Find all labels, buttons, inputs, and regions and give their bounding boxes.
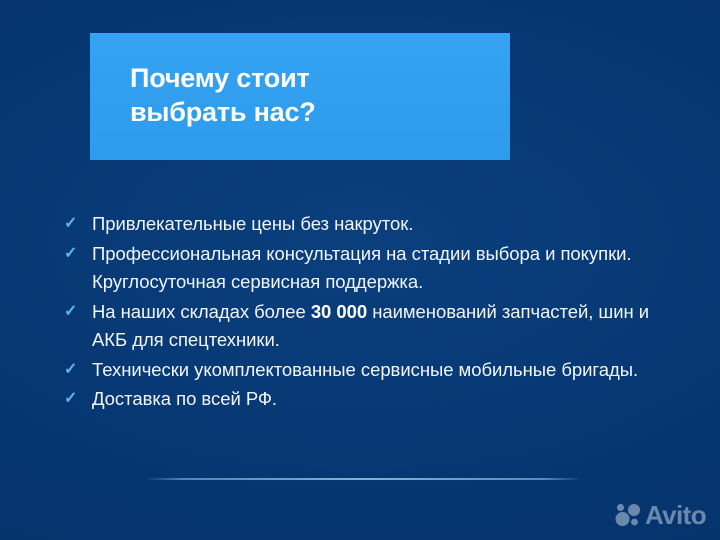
page-title: Почему стоит выбрать нас? [130,61,500,129]
list-item-label: Доставка по всей РФ. [92,388,277,409]
divider [148,478,578,480]
avito-wordmark: Avito [645,502,706,528]
benefits-list: ✓ Привлекательные цены без накруток. ✓ П… [64,210,664,415]
check-icon: ✓ [64,240,86,268]
check-icon: ✓ [64,356,86,384]
list-item-text-before: На наших складах более [92,301,311,322]
check-icon: ✓ [64,298,86,326]
check-icon: ✓ [64,385,86,413]
list-item-label: Привлекательные цены без накруток. [92,213,413,234]
title-banner: Почему стоит выбрать нас? [90,33,510,160]
list-item-label: Технически укомплектованные сервисные мо… [92,359,638,380]
list-item: ✓ Доставка по всей РФ. [64,385,664,414]
avito-watermark: Avito [615,502,706,528]
list-item: ✓ Профессиональная консультация на стади… [64,240,664,297]
list-item-highlight: 30 000 [311,301,367,322]
list-item-label: На наших складах более 30 000 наименован… [92,301,649,351]
check-icon: ✓ [64,210,86,238]
avito-dots-icon [615,502,641,528]
list-item: ✓ Технически укомплектованные сервисные … [64,356,664,385]
list-item-label: Профессиональная консультация на стадии … [92,243,632,293]
list-item: ✓ На наших складах более 30 000 наименов… [64,298,664,355]
list-item: ✓ Привлекательные цены без накруток. [64,210,664,239]
